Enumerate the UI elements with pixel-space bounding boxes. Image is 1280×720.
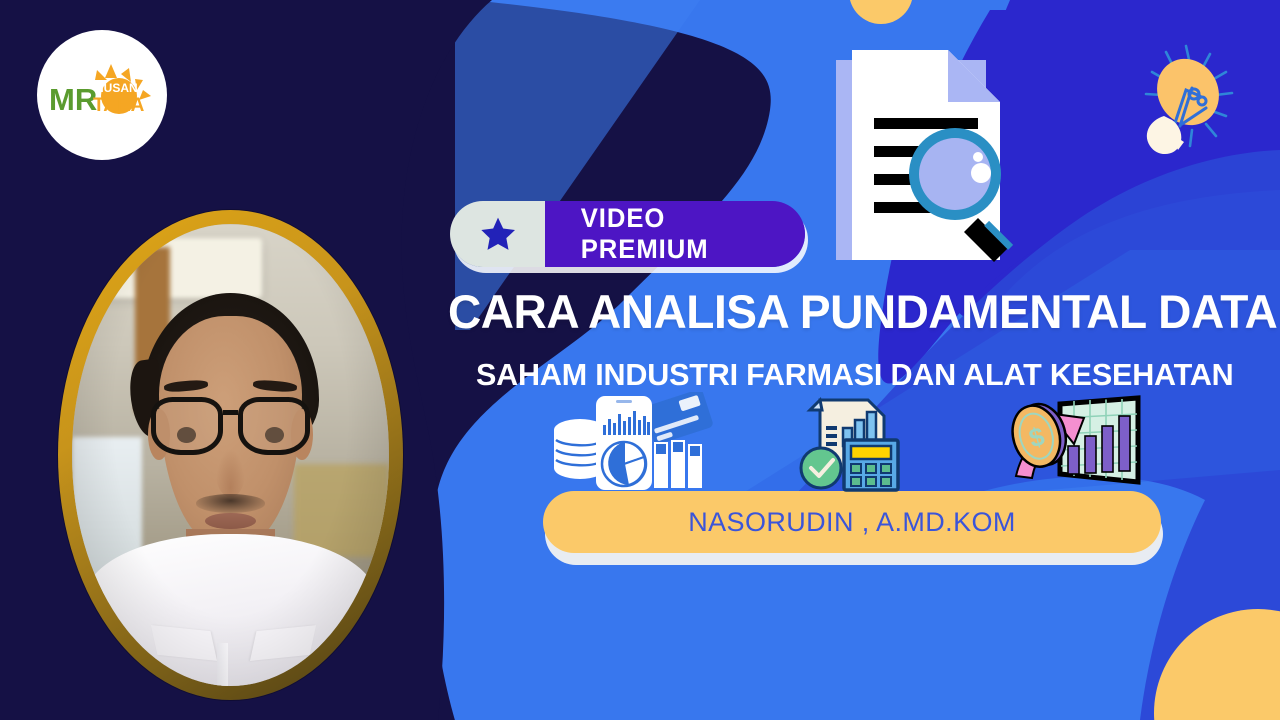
speaker-name: NASORUDIN , A.MD.KOM bbox=[688, 507, 1016, 538]
portrait-vignette bbox=[72, 224, 389, 686]
logo-text-nusan: NUSAN bbox=[95, 81, 138, 95]
brand-logo-badge: MR NUSAN TARA bbox=[37, 30, 167, 160]
lightbulb-idea-illustration bbox=[1122, 38, 1247, 168]
finance-coins-phone-card-illustration bbox=[546, 392, 731, 492]
status-badge[interactable]: VIDEO PREMIUM bbox=[450, 201, 805, 267]
badge-icon-cell bbox=[450, 201, 545, 267]
magnifier-glint-small bbox=[973, 152, 983, 162]
document-folded-corner bbox=[948, 50, 1000, 102]
calculator-icon bbox=[844, 440, 898, 490]
report-text-lines bbox=[826, 426, 837, 446]
star-icon bbox=[478, 214, 518, 254]
badge-label-cell: VIDEO PREMIUM bbox=[545, 201, 805, 267]
magnifier-glint-large bbox=[971, 163, 991, 183]
credit-card-icon bbox=[643, 392, 714, 445]
document-magnifier-illustration bbox=[830, 42, 1045, 282]
presenter-portrait-photo bbox=[72, 224, 389, 686]
growth-coin-chart-illustration: $ bbox=[1004, 390, 1144, 490]
badge-label: VIDEO PREMIUM bbox=[581, 203, 800, 265]
page-title: CARA ANALISA PUNDAMENTAL DATA bbox=[448, 288, 1222, 336]
presenter-portrait-frame bbox=[58, 210, 403, 700]
logo-text-mr: MR bbox=[49, 82, 97, 117]
file-folders-icon bbox=[654, 440, 702, 488]
check-circle-icon bbox=[801, 448, 841, 488]
audit-report-calculator-illustration bbox=[798, 388, 908, 492]
phone-pie-chart bbox=[602, 442, 646, 486]
phone-with-charts-icon bbox=[596, 396, 652, 490]
report-folded-corner bbox=[810, 400, 822, 410]
calculator-screen bbox=[851, 446, 891, 459]
thumbnail-canvas: MR NUSAN TARA bbox=[0, 0, 1280, 720]
brand-logo-mark: MR NUSAN TARA bbox=[49, 62, 155, 128]
speaker-name-pill: NASORUDIN , A.MD.KOM bbox=[543, 491, 1161, 553]
logo-text-tara: TARA bbox=[93, 95, 145, 116]
